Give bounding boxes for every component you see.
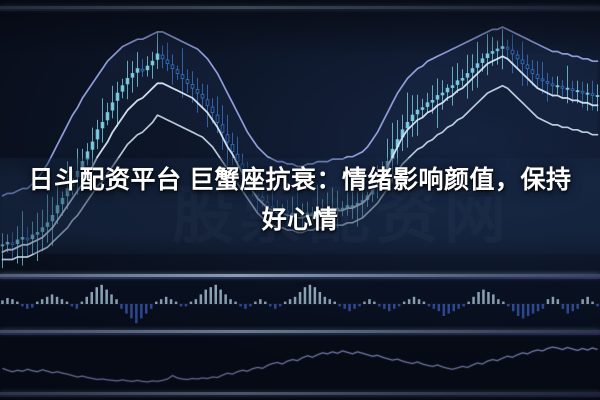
macd-panel (0, 277, 600, 331)
headline-line-2: 好心情 (0, 200, 600, 240)
page-title: 日斗配资平台 巨蟹座抗衰：情绪影响颜值，保持 好心情 (0, 160, 600, 240)
indicator-line-chart (0, 334, 600, 393)
macd-histogram (0, 277, 600, 331)
promo-banner: 股票配资网 日斗配资平台 巨蟹座抗衰：情绪影响颜值，保持 好心情 (0, 0, 600, 400)
headline-line-1: 日斗配资平台 巨蟹座抗衰：情绪影响颜值，保持 (0, 160, 600, 200)
indicator-panel (0, 334, 600, 393)
